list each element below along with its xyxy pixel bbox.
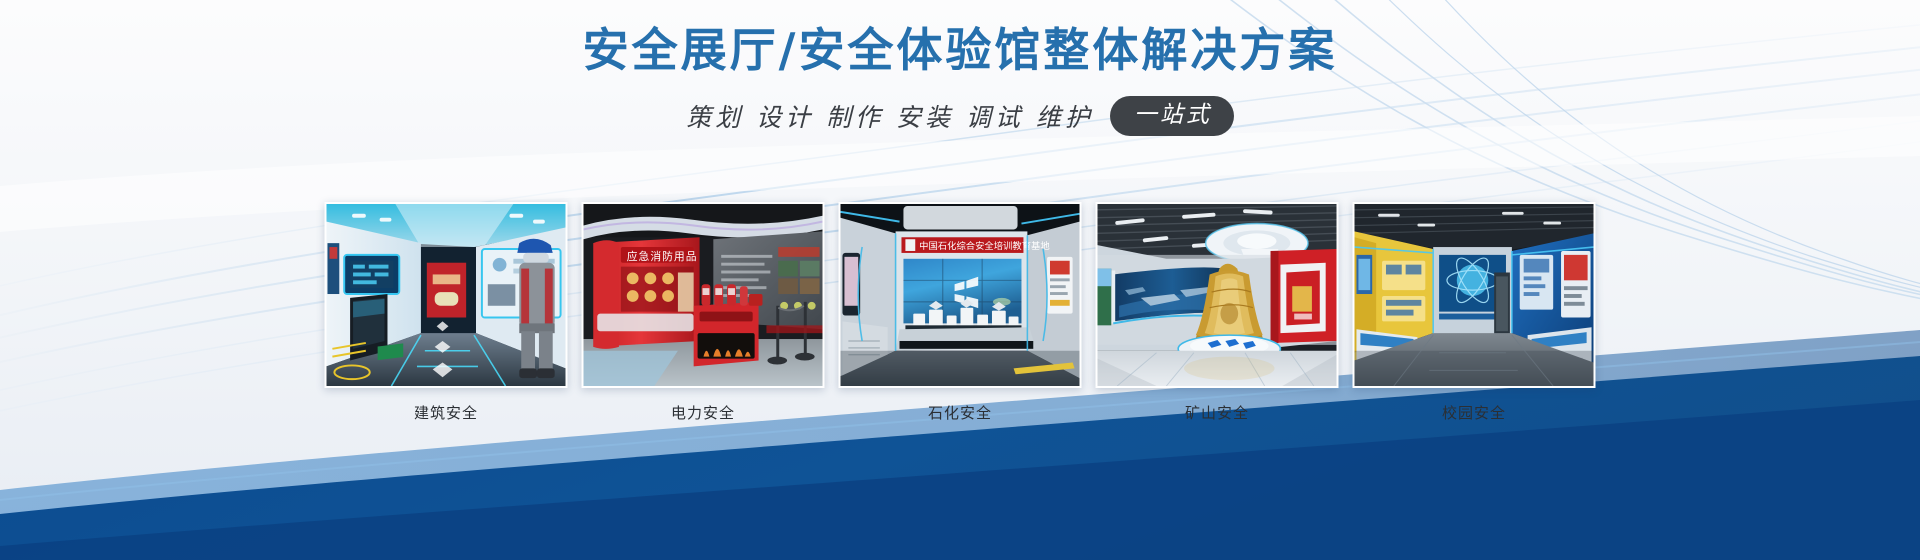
campus-safety-corridor-image[interactable]: [1353, 202, 1596, 388]
gallery-item[interactable]: 应急消防用品: [582, 202, 825, 423]
fire-safety-red-hall-image[interactable]: 应急消防用品: [582, 202, 825, 388]
petrochemical-led-wall-image[interactable]: 中国石化综合安全培训教育基地: [839, 202, 1082, 388]
service-steps-text: 策划 设计 制作 安装 调试 维护: [686, 98, 1094, 134]
gallery-item[interactable]: 校园安全: [1353, 202, 1596, 423]
gallery-item-caption: 矿山安全: [1096, 402, 1339, 423]
mining-hall-bell-image[interactable]: [1096, 202, 1339, 388]
page-title: 安全展厅/安全体验馆整体解决方案: [0, 22, 1920, 80]
banner-header: 安全展厅/安全体验馆整体解决方案 策划 设计 制作 安装 调试 维护 一站式: [0, 22, 1920, 136]
gallery-item[interactable]: 中国石化综合安全培训教育基地: [839, 202, 1082, 423]
gallery-item-caption: 校园安全: [1353, 402, 1596, 423]
exhibition-corridor-blue-image[interactable]: [325, 202, 568, 388]
svg-text:应急消防用品: 应急消防用品: [627, 250, 698, 263]
safety-exhibition-banner: 安全展厅/安全体验馆整体解决方案 策划 设计 制作 安装 调试 维护 一站式: [0, 0, 1920, 560]
svg-text:中国石化综合安全培训教育基地: 中国石化综合安全培训教育基地: [919, 240, 1050, 252]
gallery-item[interactable]: 建筑安全: [325, 202, 568, 423]
gallery-item-caption: 石化安全: [839, 402, 1082, 423]
gallery: 建筑安全: [325, 202, 1596, 423]
gallery-item[interactable]: 矿山安全: [1096, 202, 1339, 423]
status-badge: 一站式: [1110, 96, 1234, 136]
service-steps-row: 策划 设计 制作 安装 调试 维护 一站式: [0, 96, 1920, 136]
gallery-item-caption: 电力安全: [582, 402, 825, 423]
gallery-item-caption: 建筑安全: [325, 402, 568, 423]
